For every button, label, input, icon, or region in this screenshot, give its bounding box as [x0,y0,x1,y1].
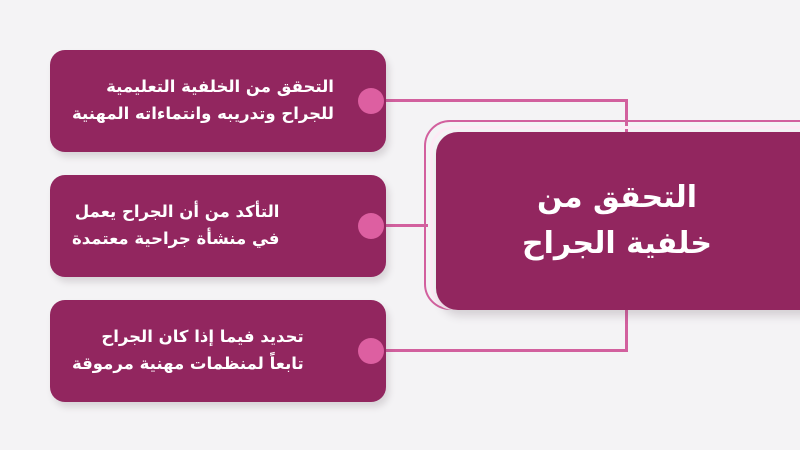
item-box-facility[interactable]: التأكد من أن الجراح يعمل في منشأة جراحية… [50,175,386,277]
main-panel: التحقق من خلفية الجراح [436,132,800,310]
connector-line-item3-vertical [625,308,628,352]
item-box-facility-label: التأكد من أن الجراح يعمل في منشأة جراحية… [72,199,279,252]
item-box-education-label: التحقق من الخلفية التعليمية للجراح وتدري… [72,74,334,127]
connector-line-item1-horizontal [380,99,628,102]
connector-line-item3-horizontal [380,349,628,352]
connector-dot-affiliation [358,338,384,364]
connector-dot-education [358,88,384,114]
connector-line-item2-horizontal [380,224,428,227]
item-box-education[interactable]: التحقق من الخلفية التعليمية للجراح وتدري… [50,50,386,152]
connector-dot-facility [358,213,384,239]
item-box-affiliation[interactable]: تحديد فيما إذا كان الجراح تابعاً لمنظمات… [50,300,386,402]
infographic-diagram: التحقق من خلفية الجراح التحقق من الخلفية… [0,0,800,450]
item-box-affiliation-label: تحديد فيما إذا كان الجراح تابعاً لمنظمات… [72,324,304,377]
main-panel-title: التحقق من خلفية الجراح [522,175,712,268]
